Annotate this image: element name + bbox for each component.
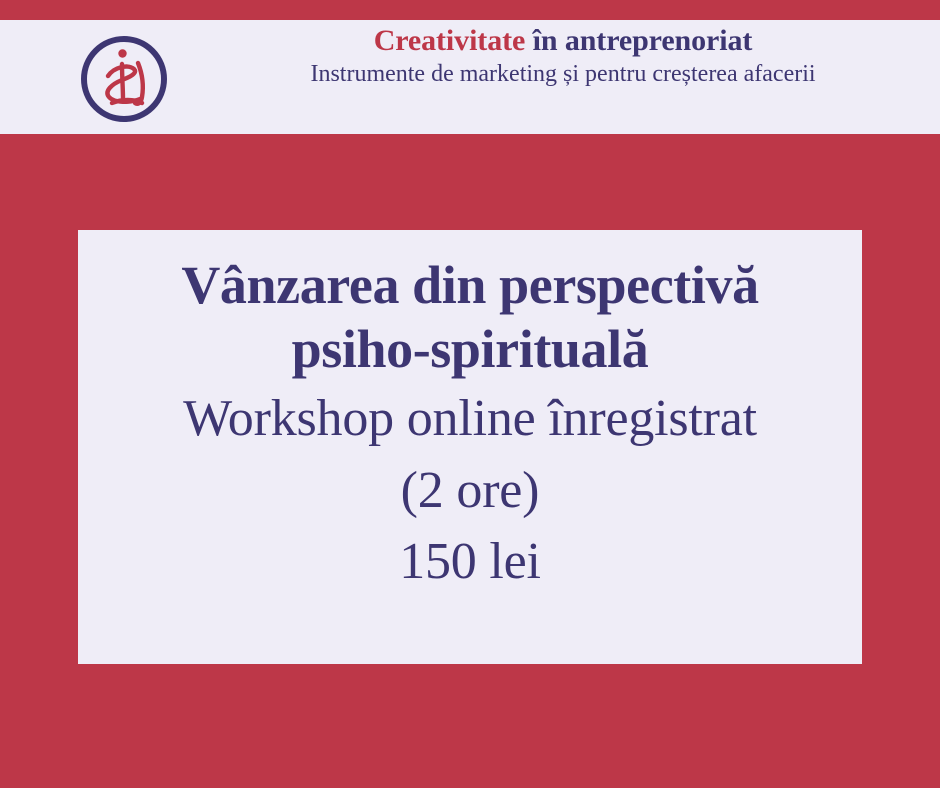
offer-heading-line-2: psiho-spirituală: [78, 318, 862, 382]
header-text-block: Creativitate în antreprenoriat Instrumen…: [186, 20, 940, 134]
offer-details: Workshop online înregistrat (2 ore) 150 …: [78, 383, 862, 597]
offer-heading: Vânzarea din perspectivă psiho-spiritual…: [78, 254, 862, 381]
offer-card: Vânzarea din perspectivă psiho-spiritual…: [78, 230, 862, 664]
offer-format: Workshop online înregistrat: [78, 383, 862, 454]
header-band: Creativitate în antreprenoriat Instrumen…: [0, 20, 940, 134]
header-subtitle: Instrumente de marketing și pentru creșt…: [243, 59, 883, 90]
offer-duration: (2 ore): [78, 455, 862, 526]
brand-monogram-logo: [78, 33, 170, 125]
offer-heading-line-1: Vânzarea din perspectivă: [181, 255, 758, 315]
offer-price: 150 lei: [78, 526, 862, 597]
header-title-rest: în antreprenoriat: [525, 24, 752, 57]
header-title: Creativitate în antreprenoriat: [374, 23, 753, 58]
top-red-strip: [0, 0, 940, 20]
header-title-accent: Creativitate: [374, 24, 526, 57]
poster-canvas: Creativitate în antreprenoriat Instrumen…: [0, 0, 940, 788]
